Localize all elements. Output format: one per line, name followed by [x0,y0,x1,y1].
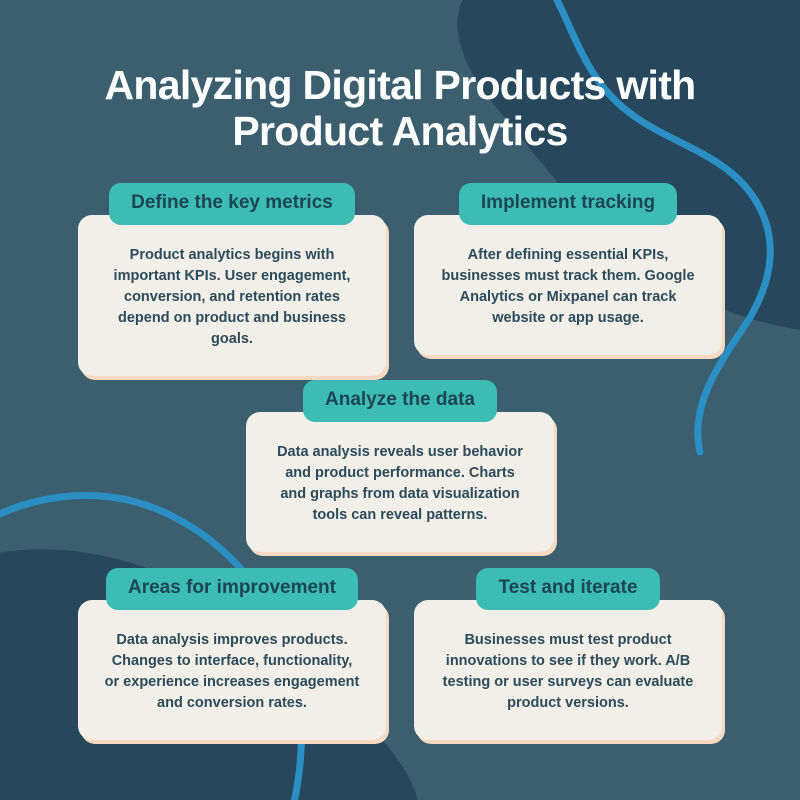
infographic-canvas: Analyzing Digital Products with Product … [0,0,800,800]
card-body-implement-tracking: After defining essential KPIs, businesse… [414,215,722,355]
card-heading-implement-tracking: Implement tracking [459,183,677,225]
card-test-and-iterate: Test and iterate Businesses must test pr… [414,568,722,740]
card-heading-define-the-key-metrics: Define the key metrics [109,183,355,225]
card-heading-test-and-iterate: Test and iterate [476,568,659,610]
card-body-areas-for-improvement: Data analysis improves products. Changes… [78,600,386,740]
card-areas-for-improvement: Areas for improvement Data analysis impr… [78,568,386,740]
card-analyze-the-data: Analyze the data Data analysis reveals u… [246,380,554,552]
card-body-define-the-key-metrics: Product analytics begins with important … [78,215,386,376]
card-implement-tracking: Implement tracking After defining essent… [414,183,722,355]
card-body-analyze-the-data: Data analysis reveals user behavior and … [246,412,554,552]
page-title: Analyzing Digital Products with Product … [0,62,800,154]
card-heading-areas-for-improvement: Areas for improvement [106,568,358,610]
page-title-line-2: Product Analytics [0,108,800,154]
card-define-the-key-metrics: Define the key metrics Product analytics… [78,183,386,376]
page-title-line-1: Analyzing Digital Products with [0,62,800,108]
card-body-test-and-iterate: Businesses must test product innovations… [414,600,722,740]
card-heading-analyze-the-data: Analyze the data [303,380,497,422]
